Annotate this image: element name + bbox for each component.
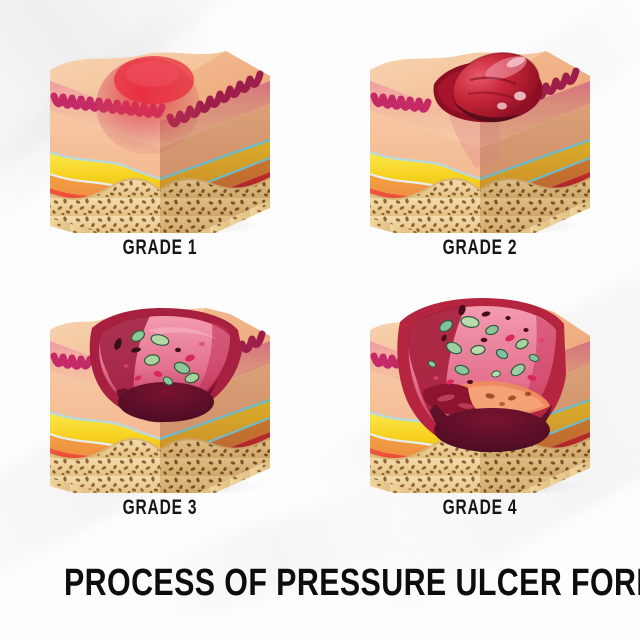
panel-grade-3: GRADE 3 [0,278,320,548]
caption-grade-1: GRADE 1 [42,236,279,260]
figure-grade-1 [30,18,290,233]
figure-grade-2 [350,18,610,233]
caption-grade-3: GRADE 3 [42,496,279,520]
page-title: PROCESS OF PRESSURE ULCER FORMATION [64,562,576,605]
panel-grade-1: GRADE 1 [0,18,320,288]
figure-grade-3 [30,278,290,493]
panel-grade-2: GRADE 2 [320,18,640,288]
figure-grade-4 [350,278,610,493]
panel-grade-4: GRADE 4 [320,278,640,548]
caption-grade-4: GRADE 4 [362,496,599,520]
caption-grade-2: GRADE 2 [362,236,599,260]
pressure-ulcer-grid: GRADE 1 [0,0,640,640]
